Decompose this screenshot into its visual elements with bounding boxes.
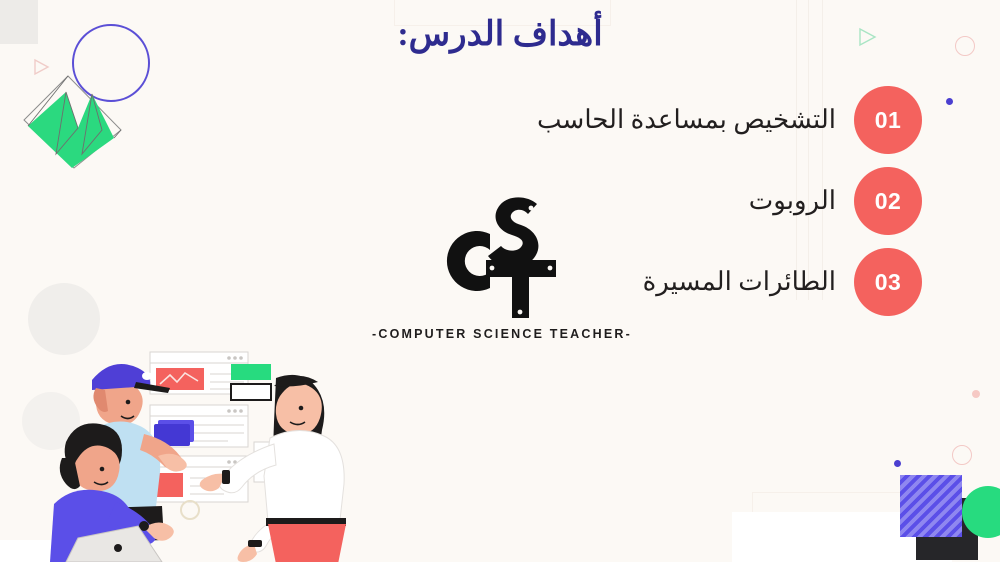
pink-dot-icon [972,390,980,398]
brand-logo: -COMPUTER SCIENCE TEACHER- [352,178,652,341]
page-title: أهداف الدرس: [0,14,1000,54]
objective-label: التشخيص بمساعدة الحاسب [537,105,836,135]
objective-number-badge: 03 [854,248,922,316]
slide-canvas: أهداف الدرس: 01 التشخيص بمساعدة الحاسب 0… [0,0,1000,562]
team-illustration [18,332,378,562]
cst-monogram-icon [432,178,572,323]
green-origami-shape [16,68,136,178]
objective-number-badge: 01 [854,86,922,154]
hatched-purple-square [900,475,962,537]
objective-label: الطائرات المسيرة [643,267,836,297]
purple-dot-icon [894,460,901,467]
objective-number-badge: 02 [854,167,922,235]
list-item[interactable]: 01 التشخيص بمساعدة الحاسب [302,86,922,154]
pink-circle-outline-icon [952,445,972,465]
purple-dot-icon [946,98,953,105]
beige-circle-outline-icon [181,501,199,519]
list-card [150,405,248,447]
objective-label: الروبوت [749,186,836,216]
logo-tagline: -COMPUTER SCIENCE TEACHER- [352,327,652,341]
